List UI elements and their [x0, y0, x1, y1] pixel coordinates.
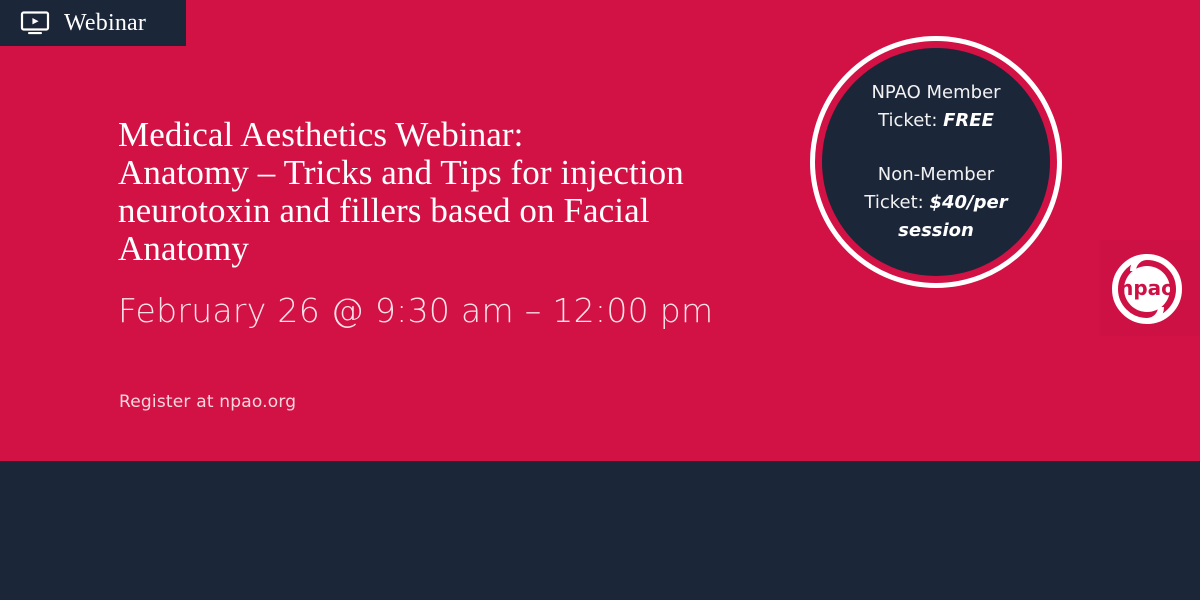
nonmember-ticket-prefix: Ticket: — [864, 192, 929, 213]
member-ticket-prefix: Ticket: — [878, 110, 943, 131]
title-block: Medical Aesthetics Webinar: Anatomy – Tr… — [118, 116, 818, 268]
member-label: NPAO Member — [871, 79, 1000, 107]
npao-logo-text: npao — [1119, 276, 1175, 300]
register-link-text[interactable]: Register at npao.org — [119, 391, 296, 413]
webinar-badge: Webinar — [0, 0, 186, 46]
webinar-screen-play-icon — [20, 11, 50, 35]
nonmember-label: Non-Member — [844, 161, 1028, 189]
price-circle: NPAO Member Ticket: FREE Non-Member Tick… — [822, 48, 1050, 276]
member-ticket-value: FREE — [943, 110, 994, 131]
nonmember-price-group: Non-Member Ticket: $40/per session — [844, 161, 1028, 245]
event-datetime: February 26 @ 9:30 am – 12:00 pm — [118, 292, 713, 330]
banner-background-bottom — [0, 461, 1200, 600]
webinar-badge-label: Webinar — [64, 11, 146, 35]
webinar-promo-banner: Webinar Medical Aesthetics Webinar: Anat… — [0, 0, 1200, 600]
member-ticket-line: Ticket: FREE — [871, 107, 1000, 135]
event-title: Medical Aesthetics Webinar: Anatomy – Tr… — [118, 116, 818, 268]
npao-logo-icon: npao — [1110, 252, 1184, 326]
member-price-group: NPAO Member Ticket: FREE — [871, 79, 1000, 135]
nonmember-ticket-line: Ticket: $40/per session — [844, 189, 1028, 245]
